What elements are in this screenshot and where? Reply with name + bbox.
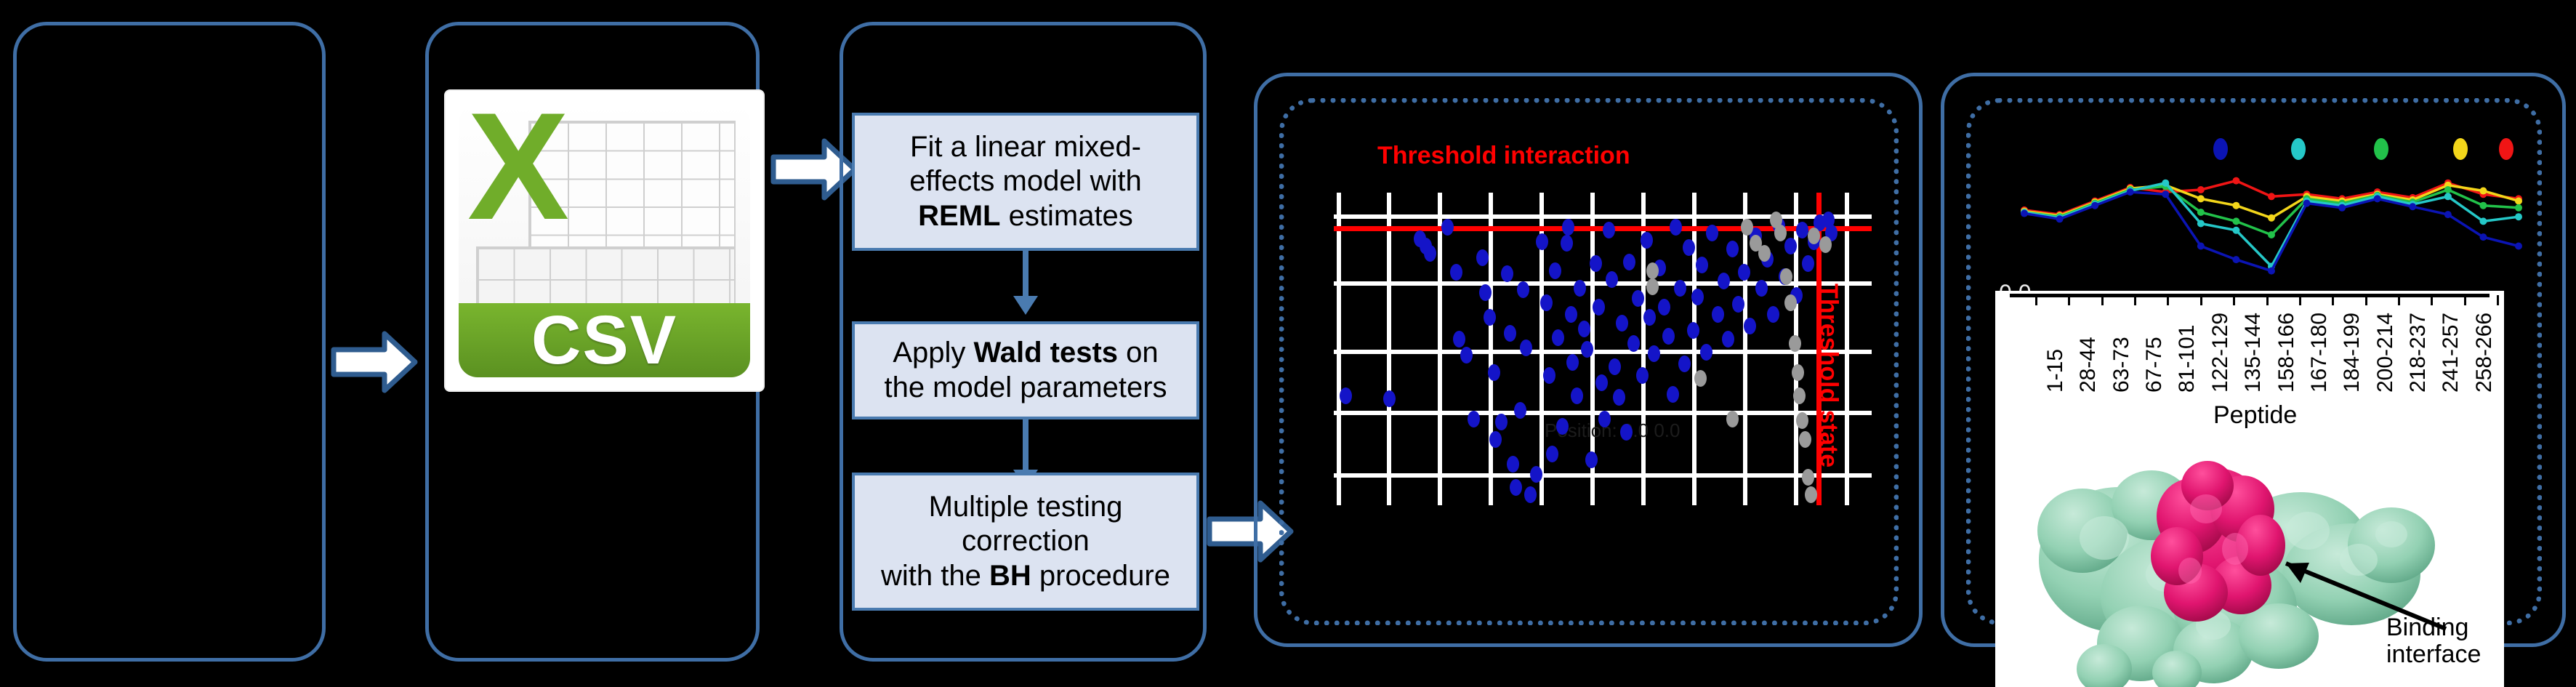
panel-input: [13, 22, 326, 662]
volcano-plot-area: Position: 0.0 0.0: [1334, 193, 1872, 505]
peptide-tick-label: 184-199: [2340, 313, 2364, 393]
series-point: [2127, 188, 2134, 196]
series-point: [2162, 190, 2169, 198]
csv-file-icon: X CSV: [446, 91, 763, 390]
peptide-axis-line: [2010, 294, 2490, 297]
peptide-tick-label: 67-75: [2142, 337, 2167, 393]
series-point: [2515, 204, 2522, 212]
peptide-tick-label: 135-144: [2241, 313, 2266, 393]
peptide-tick-label: 218-237: [2406, 313, 2431, 393]
series-point: [2232, 202, 2239, 209]
peptide-tick-label: 258-266: [2472, 313, 2497, 393]
series-point: [2268, 268, 2275, 275]
threshold-interaction-label: Threshold interaction: [1377, 142, 1630, 170]
peptide-tick-label: 1-15: [2043, 349, 2068, 393]
peptide-tick-mark: [2365, 295, 2367, 305]
series-point: [2197, 186, 2205, 193]
flow-step-bh-text: Multiple testing correction with the BH …: [881, 490, 1170, 593]
series-point: [2197, 209, 2205, 216]
volcano-plot: Threshold interaction Position: 0.0 0.0: [1334, 160, 1872, 567]
peptide-tick-label: 63-73: [2109, 337, 2134, 393]
csv-band-label: CSV: [531, 301, 677, 377]
peptide-tick-mark: [2134, 295, 2136, 305]
threshold-state-label: Threshold state: [1814, 284, 1843, 467]
series-point: [2479, 233, 2487, 241]
series-point: [2197, 195, 2205, 202]
peptide-tick-mark: [2431, 295, 2433, 305]
peptide-tick-mark: [2035, 295, 2037, 305]
peptide-chart-svg: [1984, 131, 2537, 284]
series-point: [2479, 217, 2487, 225]
series-point: [2479, 202, 2487, 209]
excel-x-glyph: X: [467, 104, 566, 246]
flow-step-bh[interactable]: Multiple testing correction with the BH …: [852, 473, 1199, 611]
peptide-tick-label: 200-214: [2373, 313, 2398, 393]
series-point: [2479, 188, 2487, 195]
series-point: [2444, 211, 2452, 218]
series-point: [2268, 214, 2275, 222]
peptide-tick-mark: [2464, 295, 2466, 305]
series-point: [2444, 186, 2452, 193]
peptide-line-chart: [1984, 131, 2537, 284]
peptide-tick-mark: [2497, 295, 2499, 305]
series-point: [2515, 243, 2522, 250]
flow-step-reml-text: Fit a linear mixed- effects model with R…: [909, 130, 1141, 233]
series-point: [2409, 203, 2416, 210]
series-point: [2232, 177, 2239, 185]
series-point: [2021, 210, 2028, 217]
peptide-tick-mark: [2398, 295, 2400, 305]
peptide-tick-label: 28-44: [2076, 337, 2101, 393]
series-point: [2197, 220, 2205, 228]
peptide-tick-label: 122-129: [2208, 313, 2233, 393]
series-point: [2338, 204, 2346, 212]
series-point: [2232, 227, 2239, 234]
series-point: [2515, 213, 2522, 220]
series-point: [2232, 217, 2239, 225]
peptide-tick-mark: [2299, 295, 2301, 305]
series-point: [2268, 231, 2275, 238]
flow-step-wald[interactable]: Apply Wald tests on the model parameters: [852, 321, 1199, 419]
structure-card: 1-1528-4463-7367-7581-101122-129135-1441…: [1995, 291, 2504, 687]
peptide-tick-mark: [2167, 295, 2169, 305]
series-point: [2056, 215, 2064, 222]
peptide-tick-mark: [2068, 295, 2070, 305]
peptide-tick-label: 81-101: [2175, 325, 2199, 393]
peptide-tick-label: 241-257: [2439, 313, 2463, 393]
series-point: [2091, 202, 2098, 209]
flow-step-reml[interactable]: Fit a linear mixed- effects model with R…: [852, 113, 1199, 251]
series-point: [2162, 180, 2169, 187]
series-point: [2374, 195, 2381, 202]
peptide-tick-mark: [2266, 295, 2269, 305]
peptide-axis-title: Peptide: [2213, 401, 2297, 430]
workflow-diagram: X CSV Fit a linear mixed- effects model …: [0, 0, 2576, 687]
series-point: [2444, 193, 2452, 200]
series-point: [2515, 198, 2522, 205]
series-point: [2197, 243, 2205, 250]
series-point: [2303, 200, 2311, 207]
series-point: [2232, 256, 2239, 263]
peptide-tick-mark: [2233, 295, 2235, 305]
peptide-tick-label: 167-180: [2307, 313, 2332, 393]
flow-step-wald-text: Apply Wald tests on the model parameters: [884, 336, 1167, 404]
peptide-tick-mark: [2200, 295, 2202, 305]
binding-interface-label: Binding interface: [2386, 614, 2481, 669]
csv-band: CSV: [459, 303, 750, 377]
peptide-tick-label: 158-166: [2274, 313, 2299, 393]
peptide-tick-mark: [2332, 295, 2334, 305]
series-point: [2268, 193, 2275, 200]
flow-arrow-0: [331, 331, 418, 393]
peptide-tick-mark: [2101, 295, 2104, 305]
